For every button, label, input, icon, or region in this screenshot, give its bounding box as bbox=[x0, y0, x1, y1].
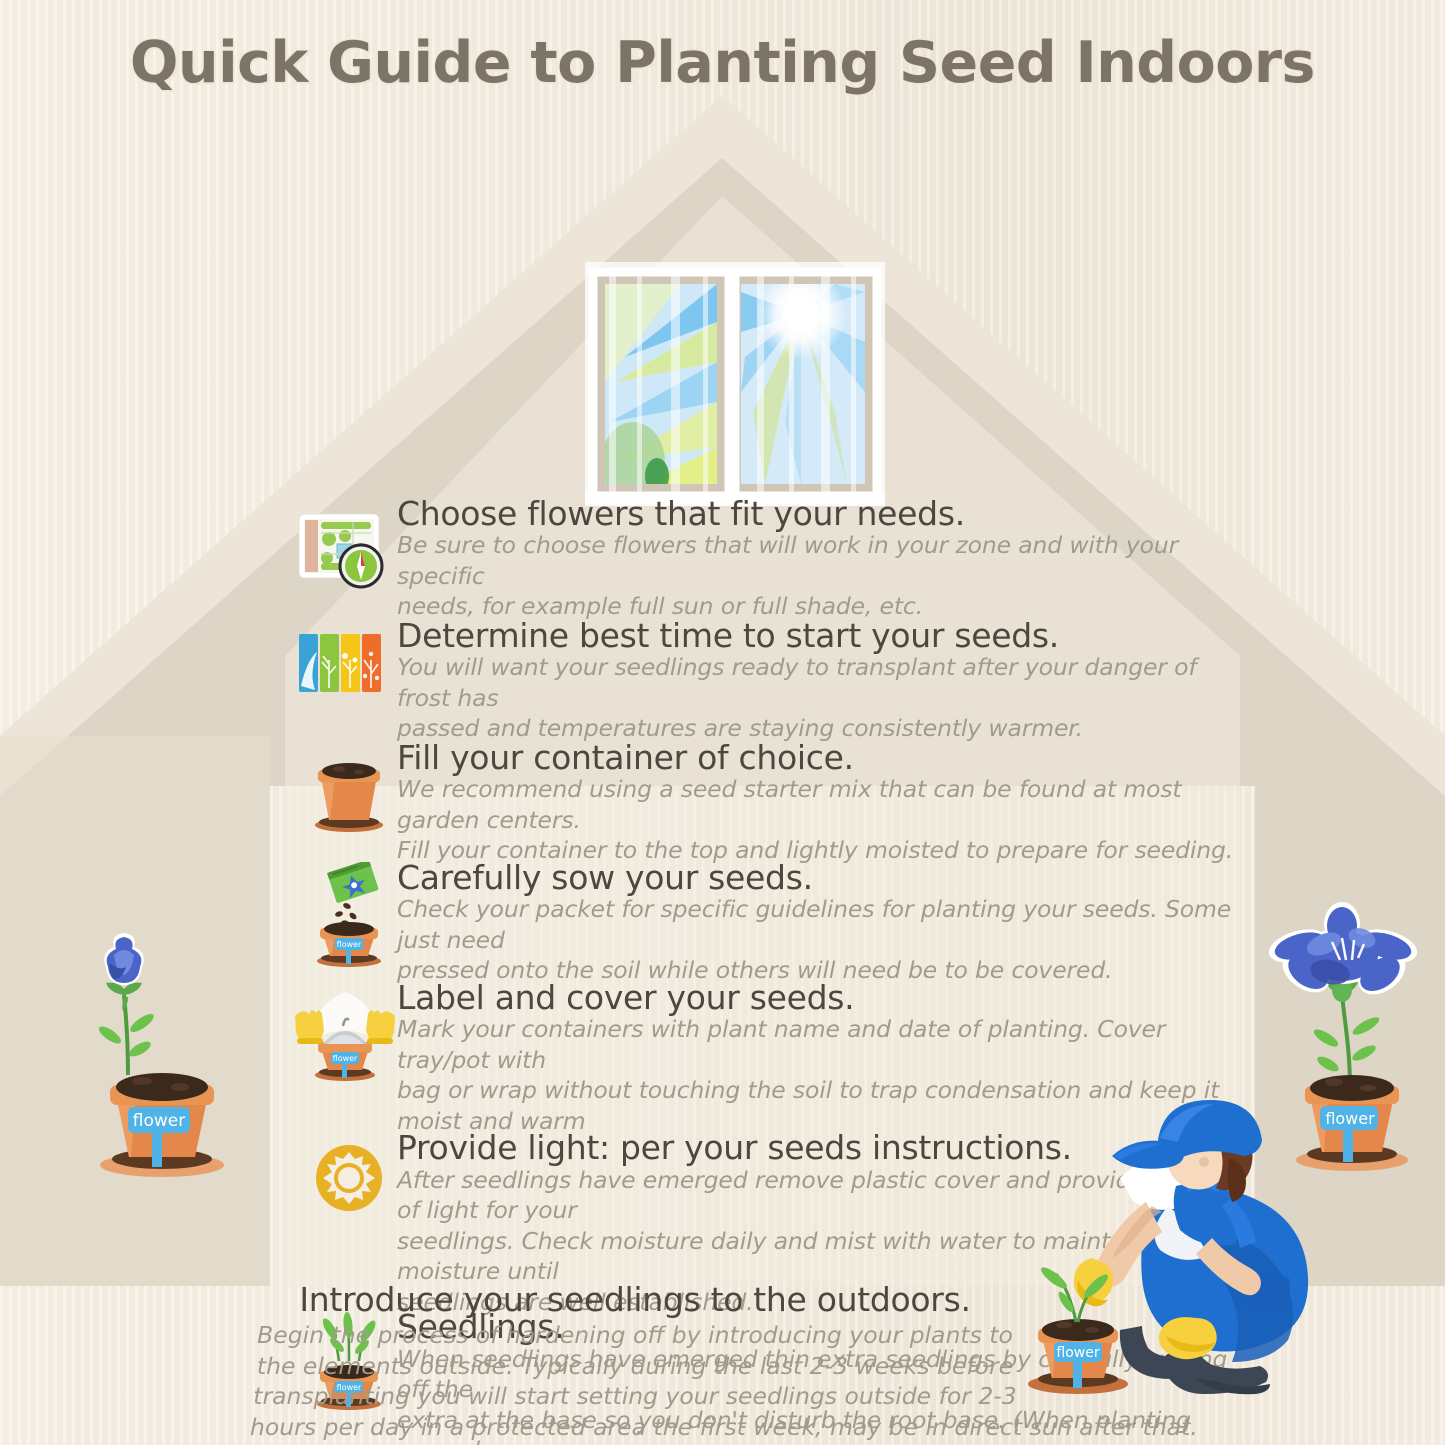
page-title: Quick Guide to Planting Seed Indoors bbox=[0, 30, 1445, 96]
step-item: Choose flowers that fit your needs. Be s… bbox=[285, 498, 1245, 622]
step-heading: Label and cover your seeds. bbox=[397, 982, 1245, 1014]
blue-rosebud-potted-plant: flower bbox=[62, 915, 262, 1190]
footer-body: Begin the process of hardening off by in… bbox=[250, 1320, 1020, 1442]
pot-label-left: flower bbox=[133, 1111, 185, 1131]
step-body: We recommend using a seed starter mix th… bbox=[397, 774, 1245, 866]
gardener-pot-label: flower bbox=[1056, 1345, 1099, 1361]
step-body: Be sure to choose flowers that will work… bbox=[397, 530, 1245, 622]
step-heading: Determine best time to start your seeds. bbox=[397, 620, 1245, 652]
step-item: Determine best time to start your seeds.… bbox=[285, 620, 1245, 744]
step-heading: Fill your container of choice. bbox=[397, 742, 1245, 774]
footer-block: Introduce your seedlings to the outdoors… bbox=[250, 1283, 1020, 1442]
step-item: Fill your container of choice. We recomm… bbox=[285, 742, 1245, 866]
step-body: You will want your seedlings ready to tr… bbox=[397, 652, 1245, 744]
infographic-canvas: Quick Guide to Planting Seed Indoors bbox=[0, 0, 1445, 1445]
sunny-window-illustration bbox=[585, 262, 885, 507]
step-body: Check your packet for specific guideline… bbox=[397, 894, 1245, 986]
kneeling-gardener-with-pot: flower bbox=[1000, 1030, 1345, 1420]
svg-text:flower: flower bbox=[337, 940, 362, 949]
step-heading: Carefully sow your seeds. bbox=[397, 862, 1245, 894]
step-item: flower Carefully sow your seeds. Check y… bbox=[285, 862, 1245, 986]
footer-heading: Introduce your seedlings to the outdoors… bbox=[250, 1283, 1020, 1316]
svg-text:flower: flower bbox=[333, 1054, 358, 1063]
step-heading: Choose flowers that fit your needs. bbox=[397, 498, 1245, 530]
